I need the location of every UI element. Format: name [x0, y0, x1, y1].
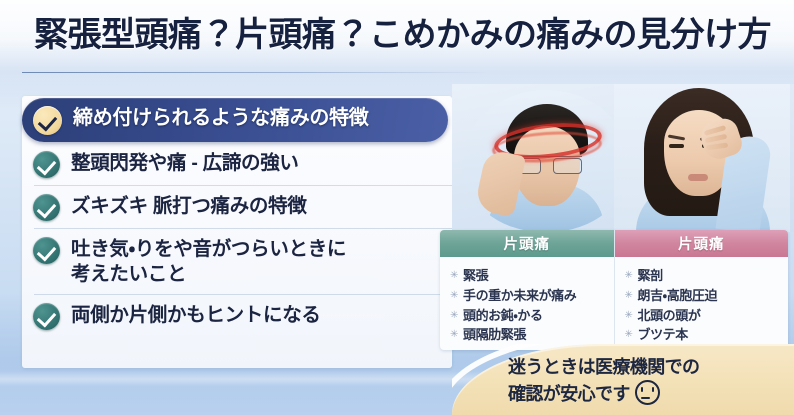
bullet-star-icon: ✳ [625, 325, 633, 344]
smiley-face-icon [635, 380, 660, 405]
table-row: ✳ 手の重か未来が痛み [450, 286, 610, 306]
title-divider [22, 72, 490, 73]
callout-line-2-wrap: 確認が安心です [508, 380, 788, 407]
column-header-left: 片頭痛 [440, 230, 614, 257]
callout-text: 迷うときは医療機関での 確認が安心です [508, 356, 788, 407]
list-item-label: 両側か片側かもヒントになる [71, 301, 321, 328]
bullet-star-icon: ✳ [450, 266, 458, 285]
check-circle-icon [33, 151, 60, 178]
bullet-star-icon: ✳ [625, 286, 633, 305]
title-block: 緊張型頭痛？片頭痛？こめかみの痛みの見分け方 [0, 16, 794, 54]
callout-line-1: 迷うときは医療機関での [508, 356, 788, 380]
table-row: ✳ ブツテ本 [625, 325, 785, 345]
list-item[interactable]: ズキズキ 脈打つ痛みの特徴 [22, 185, 492, 228]
table-row: ✳ 頭隔肋緊張 [450, 325, 610, 345]
table-row: ✳ 緊張 [450, 266, 610, 286]
bullet-star-icon: ✳ [450, 325, 458, 344]
list-item-label: 締め付けられるような痛みの特徴 [73, 104, 369, 132]
woman-migraine-photo [614, 84, 790, 232]
table-cell: 頭隔肋緊張 [463, 325, 526, 345]
table-cell: ブツテ本 [637, 325, 687, 345]
list-item[interactable]: 両側か片側かもヒントになる [22, 294, 492, 337]
bullet-star-icon: ✳ [625, 266, 633, 285]
table-cell: 朗吉・高胞圧迫 [637, 286, 717, 306]
table-row: ✳ 朗吉・高胞圧迫 [625, 286, 785, 306]
column-header-right: 片頭痛 [615, 230, 789, 257]
bullet-star-icon: ✳ [625, 306, 633, 325]
table-row: ✳ 北頭の頭が [625, 306, 785, 326]
comparison-column-left: 片頭痛 ✳ 緊張 ✳ 手の重か未来が痛み ✳ 頭的お鈍・かる ✳ 頭隔肋緊張 [440, 230, 614, 350]
table-cell: 緊剖 [637, 266, 662, 286]
woman-mouth [688, 174, 708, 181]
column-body-left: ✳ 緊張 ✳ 手の重か未来が痛み ✳ 頭的お鈍・かる ✳ 頭隔肋緊張 [440, 257, 614, 350]
check-circle-icon [33, 237, 60, 264]
list-item-label: 吐き気・りをや音がつらいときに 考えたいこと [71, 235, 346, 287]
comparison-table: 片頭痛 ✳ 緊張 ✳ 手の重か未来が痛み ✳ 頭的お鈍・かる ✳ 頭隔肋緊張 [440, 230, 788, 350]
table-cell: 頭的お鈍・かる [463, 306, 543, 326]
table-cell: 手の重か未来が痛み [463, 286, 576, 306]
poster-root: 緊張型頭痛？片頭痛？こめかみの痛みの見分け方 締め付けられるような痛みの特徴 整… [0, 0, 794, 415]
list-item-label: ズキズキ 脈打つ痛みの特徴 [71, 192, 307, 219]
check-circle-icon [33, 303, 60, 330]
table-cell: 北頭の頭が [637, 306, 700, 326]
list-item-label: 整頭閃発や痛 - 広諦の強い [71, 149, 299, 176]
bullet-list: 締め付けられるような痛みの特徴 整頭閃発や痛 - 広諦の強い ズキズキ 脈打つ痛… [22, 98, 492, 337]
check-circle-icon [33, 106, 62, 135]
bullet-star-icon: ✳ [450, 286, 458, 305]
check-circle-icon [33, 194, 60, 221]
list-item-highlighted[interactable]: 締め付けられるような痛みの特徴 [22, 98, 448, 142]
comparison-column-right: 片頭痛 ✳ 緊剖 ✳ 朗吉・高胞圧迫 ✳ 北頭の頭が ✳ ブツテ本 [614, 230, 789, 350]
table-cell: 緊張 [463, 266, 488, 286]
table-row: ✳ 緊剖 [625, 266, 785, 286]
advice-callout: 迷うときは医療機関での 確認が安心です [452, 344, 794, 415]
man-tension-headache-photo [462, 90, 630, 232]
callout-line-2: 確認が安心です [508, 384, 630, 404]
bullet-star-icon: ✳ [450, 306, 458, 325]
woman-eye-left [669, 144, 684, 148]
list-item[interactable]: 吐き気・りをや音がつらいときに 考えたいこと [22, 228, 492, 294]
photo-strip [452, 84, 794, 232]
table-row: ✳ 頭的お鈍・かる [450, 306, 610, 326]
page-title: 緊張型頭痛？片頭痛？こめかみの痛みの見分け方 [0, 16, 794, 54]
column-body-right: ✳ 緊剖 ✳ 朗吉・高胞圧迫 ✳ 北頭の頭が ✳ ブツテ本 [615, 257, 789, 350]
list-item[interactable]: 整頭閃発や痛 - 広諦の強い [22, 142, 492, 185]
